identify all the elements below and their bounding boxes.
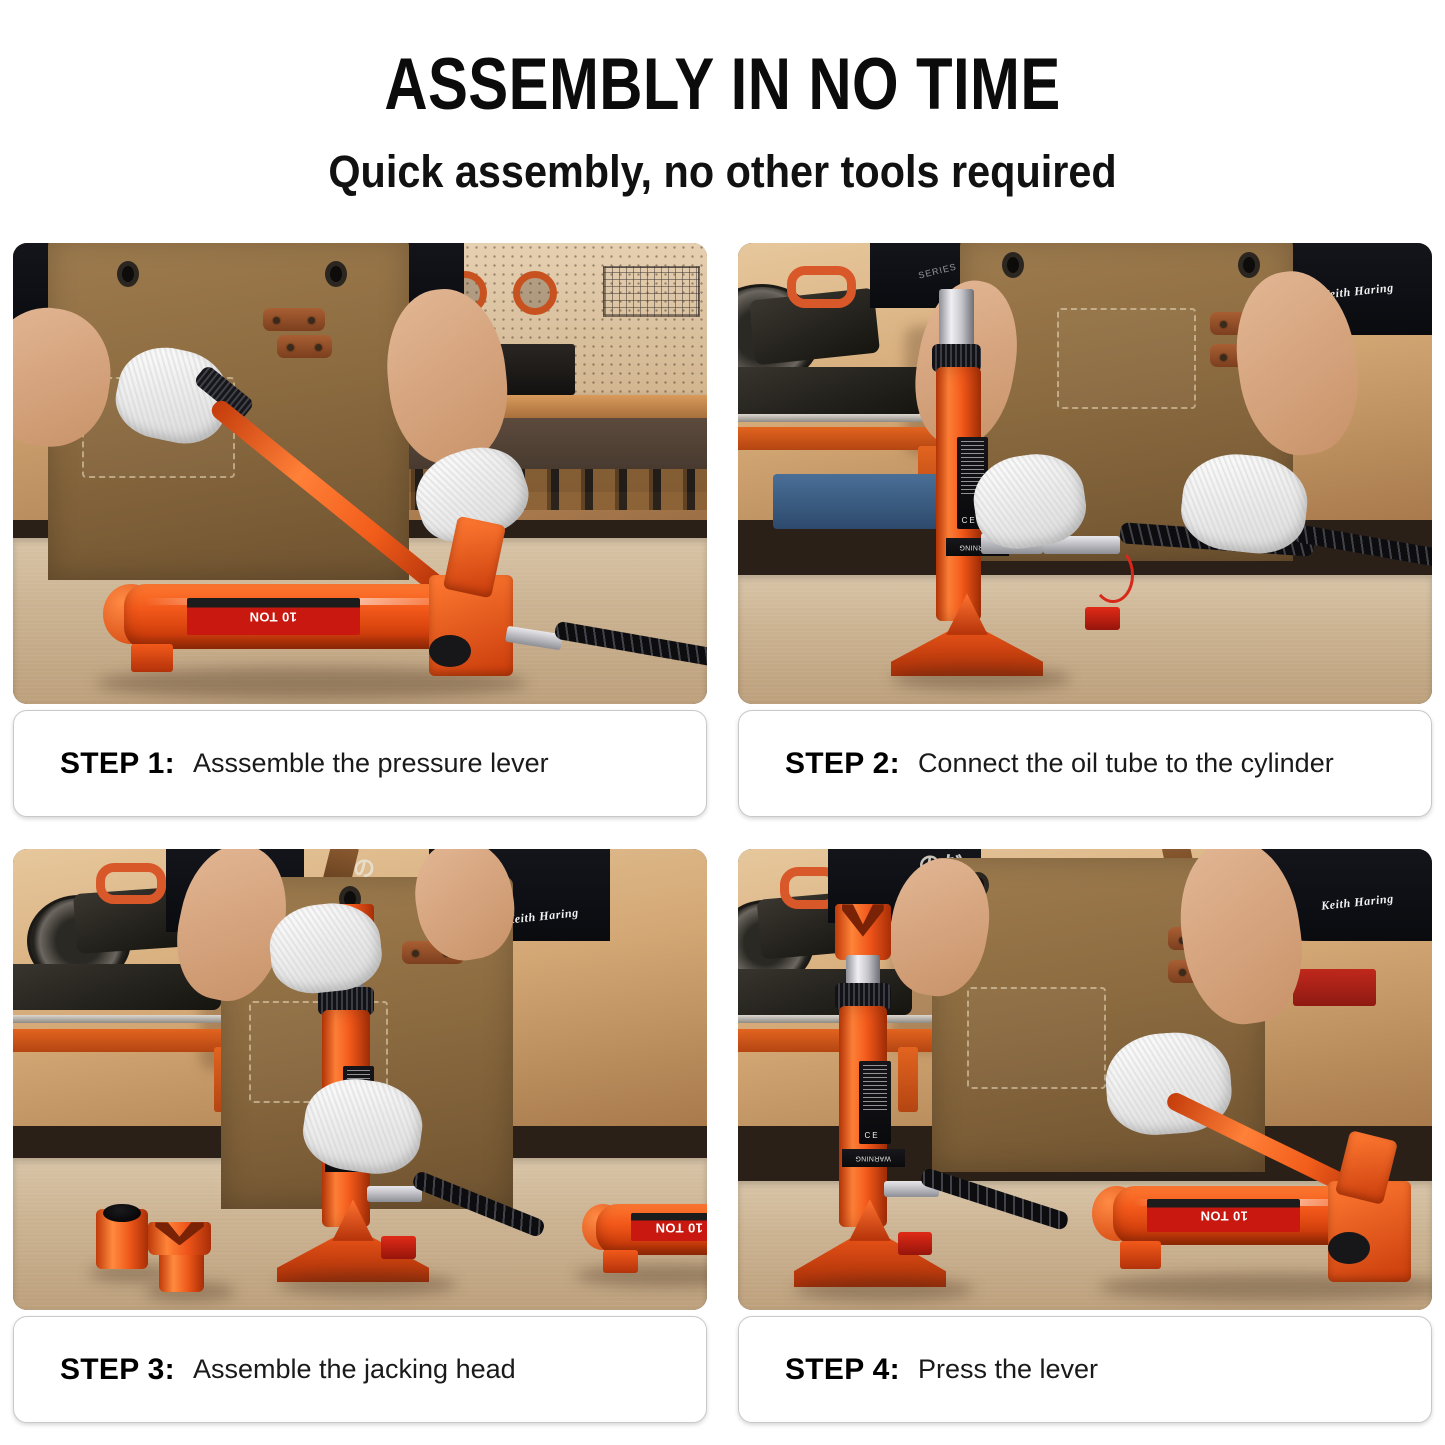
apron-grommet xyxy=(1238,252,1260,278)
step-caption-3: STEP 3: Assemble the jacking head xyxy=(13,1316,707,1423)
hose-fitting-nut xyxy=(367,1186,423,1202)
page-subtitle: Quick assembly, no other tools required xyxy=(58,146,1387,198)
apron-pocket xyxy=(967,987,1106,1088)
pump-rating-label: 10 TON xyxy=(187,598,361,635)
steps-grid: 10 TON STEP 1: Asssemble the pressure le… xyxy=(13,243,1432,1423)
spare-v-head-body xyxy=(159,1250,204,1291)
pump-label-text: 10 TON xyxy=(1200,1209,1248,1224)
header: ASSEMBLY IN NO TIME Quick assembly, no o… xyxy=(0,0,1445,198)
step-card-1: 10 TON STEP 1: Asssemble the pressure le… xyxy=(13,243,707,817)
cylinder-shadow xyxy=(277,1273,457,1296)
pump-foot xyxy=(603,1250,638,1273)
pump-label-text: 10 TON xyxy=(655,1220,703,1235)
step-caption-4: STEP 4: Press the lever xyxy=(738,1316,1432,1423)
red-dust-cap-tether xyxy=(1092,547,1134,602)
red-dust-cap xyxy=(1085,607,1120,630)
cylinder-shadow xyxy=(794,1278,974,1301)
miter-saw-handle-icon xyxy=(96,863,165,904)
apron-rivet xyxy=(273,317,280,324)
apron-grommet xyxy=(1002,252,1024,278)
release-valve-knob xyxy=(429,635,471,667)
pump-rating-label: 10 TON xyxy=(631,1213,707,1241)
pump-rating-label: 10 TON xyxy=(1147,1199,1300,1231)
step-caption-1: STEP 1: Asssemble the pressure lever xyxy=(13,710,707,817)
ce-mark: CE xyxy=(864,1131,879,1140)
red-dust-cap xyxy=(898,1232,933,1255)
release-valve-knob xyxy=(1328,1232,1370,1264)
warning-strip-text: WARNING xyxy=(855,1154,891,1161)
step-caption-2: STEP 2: Connect the oil tube to the cyli… xyxy=(738,710,1432,817)
pump-foot xyxy=(131,644,173,672)
apron-tab xyxy=(263,308,325,331)
page-title: ASSEMBLY IN NO TIME xyxy=(130,48,1315,122)
step-description: Asssemble the pressure lever xyxy=(193,748,549,779)
ce-mark: CE xyxy=(962,516,977,525)
cylinder-spec-label: CE xyxy=(859,1061,890,1144)
blue-crate xyxy=(773,474,940,529)
red-toolbox xyxy=(1293,969,1376,1006)
step-card-4: のだ Keith Haring xyxy=(738,849,1432,1423)
workbench-surface xyxy=(738,575,1432,704)
miter-saw-table xyxy=(738,367,925,413)
step-photo-1: 10 TON xyxy=(13,243,707,704)
cylinder-ram xyxy=(939,289,974,349)
saw-stand-leg xyxy=(898,1047,919,1112)
pump-foot xyxy=(1120,1241,1162,1269)
step-number-label: STEP 2: xyxy=(785,747,900,781)
step-number-label: STEP 4: xyxy=(785,1353,900,1387)
pump-label-text: 10 TON xyxy=(249,610,297,625)
step-photo-4: のだ Keith Haring xyxy=(738,849,1432,1310)
spring-clamp-icon xyxy=(513,271,557,315)
apron-rivet xyxy=(308,317,315,324)
step-description: Press the lever xyxy=(918,1354,1098,1385)
wire-basket xyxy=(603,266,700,317)
step-description: Connect the oil tube to the cylinder xyxy=(918,748,1334,779)
apron-rivet xyxy=(1179,969,1186,976)
apron-pocket xyxy=(1057,308,1196,409)
red-dust-cap xyxy=(381,1236,416,1259)
step-number-label: STEP 1: xyxy=(60,747,175,781)
oil-hose-tail xyxy=(1293,524,1432,571)
assembly-infographic: ASSEMBLY IN NO TIME Quick assembly, no o… xyxy=(0,0,1445,1445)
apron-rivet xyxy=(1220,354,1227,361)
label-text-lines xyxy=(863,1065,886,1113)
step-card-3: の Keith Haring xyxy=(13,849,707,1423)
cylinder-shadow xyxy=(891,667,1071,690)
miter-saw-rail xyxy=(13,1015,249,1023)
step-card-2: SERIES Keith Haring xyxy=(738,243,1432,817)
cylinder-warning-strip: WARNING xyxy=(842,1149,904,1167)
apron-tab xyxy=(277,335,333,358)
step-photo-2: SERIES Keith Haring xyxy=(738,243,1432,704)
miter-saw-handle-icon xyxy=(787,266,856,307)
step-photo-3: の Keith Haring xyxy=(13,849,707,1310)
step-description: Assemble the jacking head xyxy=(193,1354,516,1385)
step-number-label: STEP 3: xyxy=(60,1353,175,1387)
